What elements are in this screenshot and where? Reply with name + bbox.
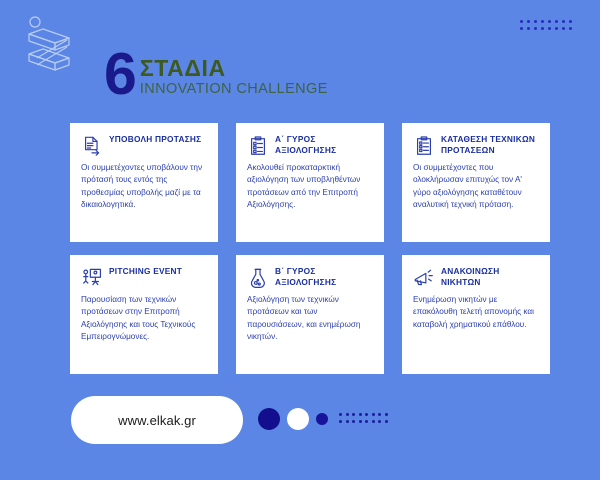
card-body: Ακολουθεί προκαταρκτική αξιολόγηση των υ… bbox=[247, 162, 373, 212]
decorative-footer-dots bbox=[258, 408, 390, 430]
card-body: Ενημέρωση νικητών με επακόλουθη τελετή α… bbox=[413, 294, 539, 331]
headline-subtitle: INNOVATION CHALLENGE bbox=[140, 81, 328, 98]
footer-dot-large-white bbox=[287, 408, 309, 430]
headline-main: ΣΤΑΔΙΑ bbox=[140, 57, 328, 80]
stage-card: Β΄ ΓΥΡΟΣ ΑΞΙΟΛΟΓΗΣΗΣ Αξιολόγηση των τεχν… bbox=[236, 255, 384, 374]
page-title: 6 ΣΤΑΔΙΑ INNOVATION CHALLENGE bbox=[104, 44, 328, 103]
stages-card-grid: ΥΠΟΒΟΛΗ ΠΡΟΤΑΣΗΣ Οι συμμετέχοντες υποβάλ… bbox=[70, 123, 550, 374]
footer-dot-small-navy bbox=[316, 413, 328, 425]
card-title: PITCHING EVENT bbox=[109, 266, 182, 277]
stage-card: ΑΝΑΚΟΙΝΩΣΗ ΝΙΚΗΤΩΝ Ενημέρωση νικητών με … bbox=[402, 255, 550, 374]
decorative-dot-grid-top bbox=[520, 20, 575, 33]
footer-dot-grid bbox=[339, 413, 390, 425]
megaphone-icon bbox=[413, 267, 435, 289]
card-header: ΑΝΑΚΟΙΝΩΣΗ ΝΙΚΗΤΩΝ bbox=[413, 266, 539, 289]
card-body: Αξιολόγηση των τεχνικών προτάσεων και τω… bbox=[247, 294, 373, 344]
card-title: Α΄ ΓΥΡΟΣ ΑΞΙΟΛΟΓΗΣΗΣ bbox=[275, 134, 373, 157]
card-title: Β΄ ΓΥΡΟΣ ΑΞΙΟΛΟΓΗΣΗΣ bbox=[275, 266, 373, 289]
card-header: ΥΠΟΒΟΛΗ ΠΡΟΤΑΣΗΣ bbox=[81, 134, 207, 157]
footer-dot-large-navy bbox=[258, 408, 280, 430]
headline-text-block: ΣΤΑΔΙΑ INNOVATION CHALLENGE bbox=[140, 57, 328, 98]
card-header: Β΄ ΓΥΡΟΣ ΑΞΙΟΛΟΓΗΣΗΣ bbox=[247, 266, 373, 289]
card-body: Παρουσίαση των τεχνικών προτάσεων στην Ε… bbox=[81, 294, 207, 344]
stage-card: PITCHING EVENT Παρουσίαση των τεχνικών π… bbox=[70, 255, 218, 374]
clipboard-checklist-icon bbox=[247, 135, 269, 157]
document-submit-icon bbox=[81, 135, 103, 157]
stage-card: Α΄ ΓΥΡΟΣ ΑΞΙΟΛΟΓΗΣΗΣ Ακολουθεί προκαταρκ… bbox=[236, 123, 384, 242]
card-title: ΚΑΤΑΘΕΣΗ ΤΕΧΝΙΚΩΝ ΠΡΟΤΑΣΕΩΝ bbox=[441, 134, 539, 157]
website-url-button[interactable]: www.elkak.gr bbox=[71, 396, 243, 444]
clipboard-technical-icon bbox=[413, 135, 435, 157]
card-body: Οι συμμετέχοντες που ολοκλήρωσαν επιτυχώ… bbox=[413, 162, 539, 212]
card-title: ΑΝΑΚΟΙΝΩΣΗ ΝΙΚΗΤΩΝ bbox=[441, 266, 539, 289]
flask-lab-icon bbox=[247, 267, 269, 289]
card-body: Οι συμμετέχοντες υποβάλουν την πρότασή τ… bbox=[81, 162, 207, 212]
card-header: Α΄ ΓΥΡΟΣ ΑΞΙΟΛΟΓΗΣΗΣ bbox=[247, 134, 373, 157]
card-header: ΚΑΤΑΘΕΣΗ ΤΕΧΝΙΚΩΝ ΠΡΟΤΑΣΕΩΝ bbox=[413, 134, 539, 157]
presenter-board-icon bbox=[81, 267, 103, 289]
website-url-label: www.elkak.gr bbox=[118, 413, 196, 428]
stage-card: ΚΑΤΑΘΕΣΗ ΤΕΧΝΙΚΩΝ ΠΡΟΤΑΣΕΩΝ Οι συμμετέχο… bbox=[402, 123, 550, 242]
elkak-logo-icon bbox=[17, 14, 81, 80]
headline-number: 6 bbox=[104, 46, 135, 103]
card-header: PITCHING EVENT bbox=[81, 266, 207, 289]
poster-canvas: 6 ΣΤΑΔΙΑ INNOVATION CHALLENGE ΥΠΟΒΟΛΗ bbox=[0, 0, 600, 480]
stage-card: ΥΠΟΒΟΛΗ ΠΡΟΤΑΣΗΣ Οι συμμετέχοντες υποβάλ… bbox=[70, 123, 218, 242]
card-title: ΥΠΟΒΟΛΗ ΠΡΟΤΑΣΗΣ bbox=[109, 134, 201, 145]
